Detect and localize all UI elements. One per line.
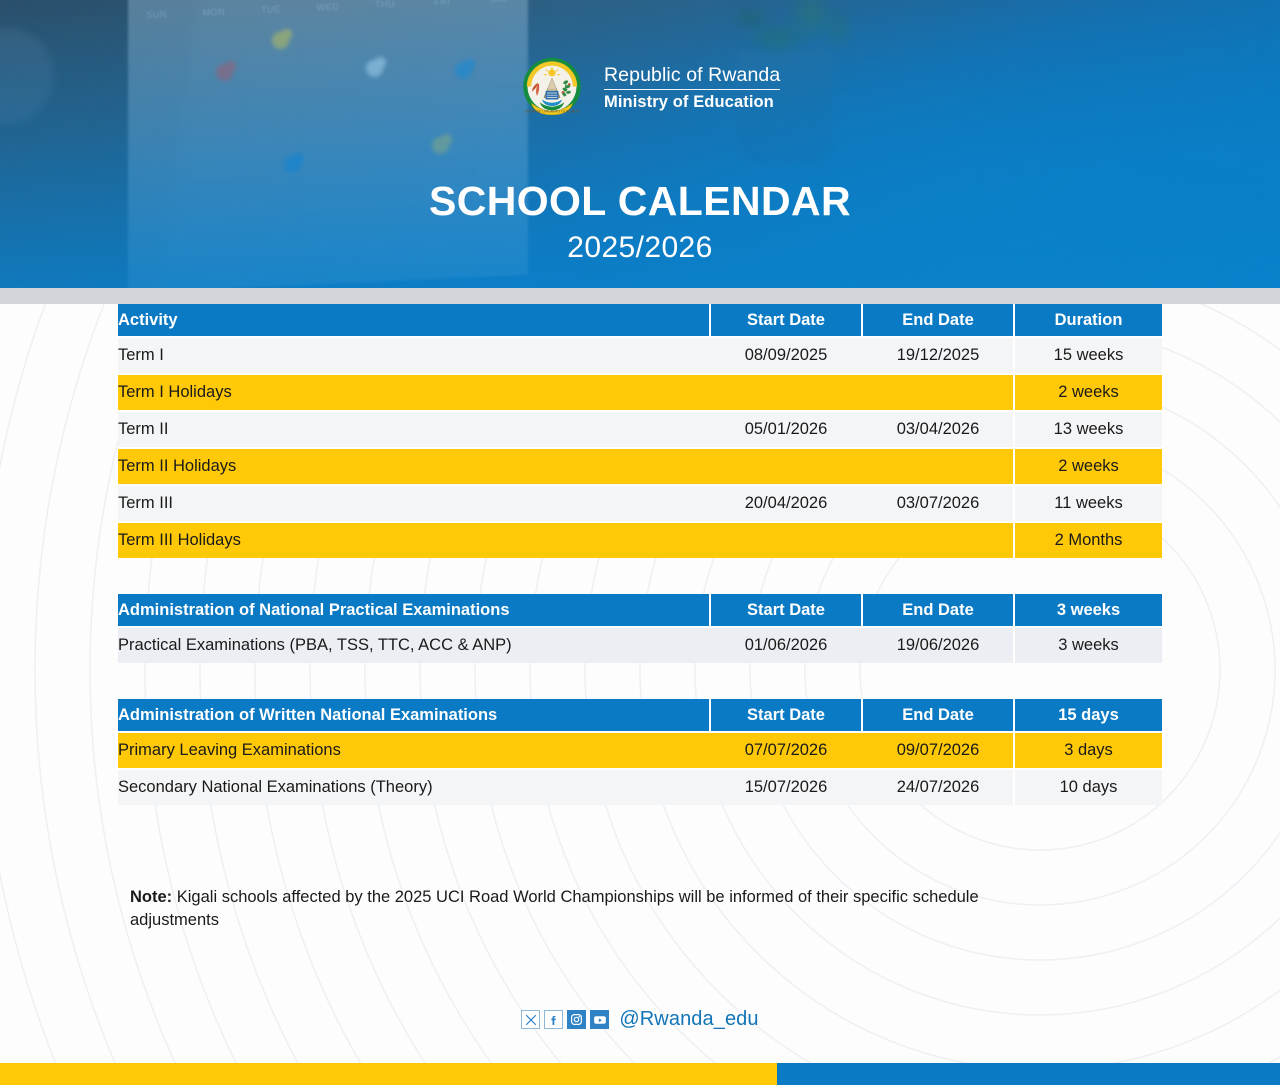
cell-duration: 11 weeks xyxy=(1015,486,1162,521)
cell-duration: 2 weeks xyxy=(1015,449,1162,484)
column-header-total-duration: 3 weeks xyxy=(1015,594,1162,626)
cell-start-date: 07/07/2026 xyxy=(711,733,861,768)
column-header-written-title: Administration of Written National Exami… xyxy=(118,699,709,731)
page-header: SUN MON TUE WED THU FRI SAT xyxy=(0,0,1280,288)
table-row: Term II 05/01/2026 03/04/2026 13 weeks xyxy=(118,412,1162,447)
cell-duration: 2 Months xyxy=(1015,523,1162,558)
cell-end-date: 24/07/2026 xyxy=(863,770,1013,805)
note-text: Kigali schools affected by the 2025 UCI … xyxy=(130,888,979,929)
table-row: Practical Examinations (PBA, TSS, TTC, A… xyxy=(118,628,1162,663)
calendar-content: Activity Start Date End Date Duration Te… xyxy=(0,304,1280,805)
cell-activity: Secondary National Examinations (Theory) xyxy=(118,770,709,805)
cell-end-date: 09/07/2026 xyxy=(863,733,1013,768)
table-header-row: Administration of Written National Exami… xyxy=(118,699,1162,731)
table-row: Primary Leaving Examinations 07/07/2026 … xyxy=(118,733,1162,768)
page-title: SCHOOL CALENDAR xyxy=(0,178,1280,225)
logo-ministry-line: Ministry of Education xyxy=(604,90,780,111)
social-footer: @Rwanda_edu xyxy=(0,1008,1280,1031)
cell-activity-merged: Term I Holidays xyxy=(118,375,1013,410)
cell-activity-merged: Term II Holidays xyxy=(118,449,1013,484)
page-subtitle: 2025/2026 xyxy=(0,231,1280,265)
column-header-end-date: End Date xyxy=(863,699,1013,731)
table-row: Term I 08/09/2025 19/12/2025 15 weeks xyxy=(118,338,1162,373)
cell-duration: 3 days xyxy=(1015,733,1162,768)
cell-activity: Term II xyxy=(118,412,709,447)
cell-duration: 13 weeks xyxy=(1015,412,1162,447)
table-row: Term II Holidays 2 weeks xyxy=(118,449,1162,484)
cell-start-date: 05/01/2026 xyxy=(711,412,861,447)
column-header-practical-title: Administration of National Practical Exa… xyxy=(118,594,709,626)
svg-text:UBUMWE UMURIMO GUKUNDA: UBUMWE UMURIMO GUKUNDA xyxy=(525,109,580,113)
terms-table: Activity Start Date End Date Duration Te… xyxy=(118,304,1162,558)
cell-activity: Term I xyxy=(118,338,709,373)
column-header-end-date: End Date xyxy=(863,304,1013,336)
table-header-row: Activity Start Date End Date Duration xyxy=(118,304,1162,336)
cell-duration: 15 weeks xyxy=(1015,338,1162,373)
bottom-accent-bar xyxy=(0,1063,1280,1085)
column-header-start-date: Start Date xyxy=(711,699,861,731)
note-block: Note: Kigali schools affected by the 202… xyxy=(130,886,1010,933)
table-row: Term I Holidays 2 weeks xyxy=(118,375,1162,410)
cell-start-date: 20/04/2026 xyxy=(711,486,861,521)
header-divider xyxy=(0,288,1280,304)
bottom-bar-blue-segment xyxy=(777,1063,1280,1085)
table-header-row: Administration of National Practical Exa… xyxy=(118,594,1162,626)
cell-duration: 10 days xyxy=(1015,770,1162,805)
table-row: Term III Holidays 2 Months xyxy=(118,523,1162,558)
column-header-start-date: Start Date xyxy=(711,594,861,626)
section-spacer xyxy=(0,558,1280,594)
table-row: Term III 20/04/2026 03/07/2026 11 weeks xyxy=(118,486,1162,521)
cell-duration: 2 weeks xyxy=(1015,375,1162,410)
cell-end-date: 03/04/2026 xyxy=(863,412,1013,447)
column-header-duration: Duration xyxy=(1015,304,1162,336)
column-header-total-duration: 15 days xyxy=(1015,699,1162,731)
social-handle: @Rwanda_edu xyxy=(619,1008,758,1031)
table-row: Secondary National Examinations (Theory)… xyxy=(118,770,1162,805)
cell-end-date: 03/07/2026 xyxy=(863,486,1013,521)
social-icon-group xyxy=(521,1010,609,1029)
cell-start-date: 15/07/2026 xyxy=(711,770,861,805)
cell-end-date: 19/06/2026 xyxy=(863,628,1013,663)
x-twitter-icon[interactable] xyxy=(521,1010,540,1029)
written-examinations-table: Administration of Written National Exami… xyxy=(118,699,1162,805)
column-header-end-date: End Date xyxy=(863,594,1013,626)
cell-end-date: 19/12/2025 xyxy=(863,338,1013,373)
note-label: Note: xyxy=(130,888,172,906)
instagram-icon[interactable] xyxy=(567,1010,586,1029)
ministry-logo-lockup: UBUMWE UMURIMO GUKUNDA Republic of Rwand… xyxy=(516,52,780,124)
practical-examinations-table: Administration of National Practical Exa… xyxy=(118,594,1162,663)
column-header-start-date: Start Date xyxy=(711,304,861,336)
facebook-icon[interactable] xyxy=(544,1010,563,1029)
cell-activity: Practical Examinations (PBA, TSS, TTC, A… xyxy=(118,628,709,663)
cell-activity-merged: Term III Holidays xyxy=(118,523,1013,558)
cell-duration: 3 weeks xyxy=(1015,628,1162,663)
column-header-activity: Activity xyxy=(118,304,709,336)
cell-activity: Primary Leaving Examinations xyxy=(118,733,709,768)
youtube-icon[interactable] xyxy=(590,1010,609,1029)
rwanda-coat-of-arms-icon: UBUMWE UMURIMO GUKUNDA xyxy=(516,52,588,124)
bottom-bar-yellow-segment xyxy=(0,1063,777,1085)
cell-start-date: 08/09/2025 xyxy=(711,338,861,373)
title-block: SCHOOL CALENDAR 2025/2026 xyxy=(0,178,1280,265)
section-spacer xyxy=(0,663,1280,699)
cell-activity: Term III xyxy=(118,486,709,521)
cell-start-date: 01/06/2026 xyxy=(711,628,861,663)
logo-republic-line: Republic of Rwanda xyxy=(604,65,780,90)
